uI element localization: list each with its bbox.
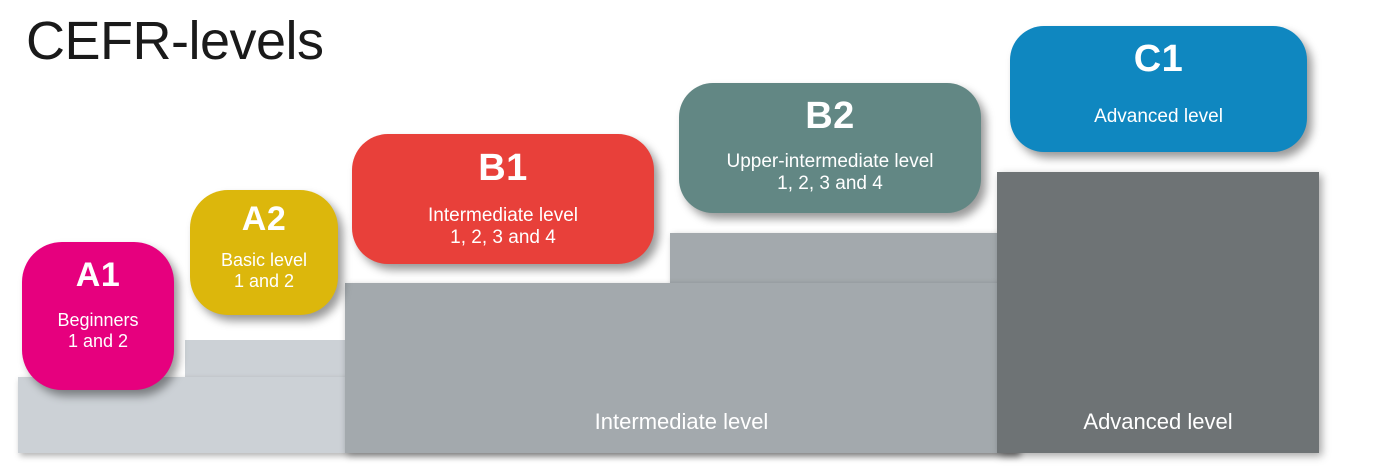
level-card-b2[interactable]: B2 Upper-intermediate level 1, 2, 3 and … (679, 83, 981, 213)
level-subtitle-a1: Beginners (57, 310, 138, 331)
stair-step-intermediate: Intermediate level (345, 283, 1018, 453)
level-subtitle-a2: Basic level (221, 250, 307, 271)
level-subtitle-c1: Advanced level (1094, 106, 1223, 128)
level-subtitle-b1: Intermediate level (428, 205, 578, 227)
level-subtitle-b2: Upper-intermediate level (727, 151, 934, 173)
level-card-a1[interactable]: A1 Beginners 1 and 2 (22, 242, 174, 390)
level-card-c1[interactable]: C1 Advanced level (1010, 26, 1307, 152)
level-code-c1: C1 (1134, 40, 1184, 78)
level-sublevels-a2: 1 and 2 (234, 271, 294, 292)
stair-step-advanced: Advanced level (997, 172, 1319, 453)
level-sublevels-b1: 1, 2, 3 and 4 (450, 227, 556, 249)
stair-label-advanced: Advanced level (997, 409, 1319, 435)
page-title: CEFR-levels (26, 12, 324, 71)
level-card-a2[interactable]: A2 Basic level 1 and 2 (190, 190, 338, 315)
level-code-b2: B2 (805, 97, 855, 135)
level-sublevels-b2: 1, 2, 3 and 4 (777, 173, 883, 195)
level-code-a1: A1 (76, 258, 120, 292)
level-code-b1: B1 (478, 149, 528, 187)
cefr-levels-diagram: CEFR-levels Basic level Intermediate lev… (0, 0, 1377, 476)
stair-riser-intermediate (670, 233, 1018, 289)
level-code-a2: A2 (242, 202, 286, 236)
level-sublevels-a1: 1 and 2 (68, 331, 128, 352)
stair-label-intermediate: Intermediate level (345, 409, 1018, 435)
level-card-b1[interactable]: B1 Intermediate level 1, 2, 3 and 4 (352, 134, 654, 264)
